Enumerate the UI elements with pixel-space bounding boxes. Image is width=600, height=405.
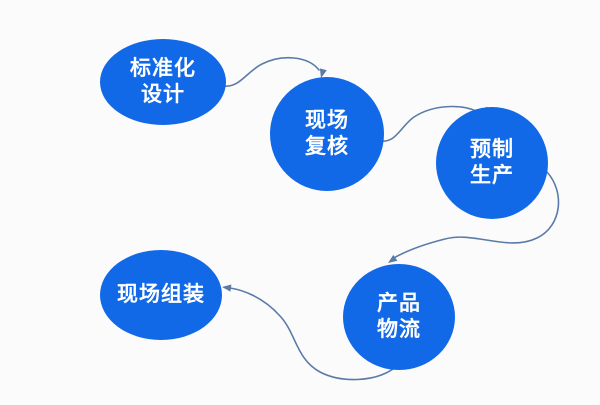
process-node-2[interactable]: 现场复核 [270, 77, 384, 191]
process-flow-diagram: 标准化设计现场复核预制生产产品物流现场组装 [0, 0, 600, 405]
node-label-line: 复核 [304, 134, 349, 158]
process-node-3[interactable]: 预制生产 [436, 107, 548, 219]
node-label-line: 生产 [470, 163, 514, 187]
node-label-line: 现场 [305, 109, 349, 132]
process-node-4[interactable]: 产品物流 [343, 264, 455, 370]
node-label-line: 产品 [377, 291, 421, 315]
node-label-line: 设计 [141, 83, 185, 106]
node-label-line: 物流 [377, 317, 421, 341]
node-label-line: 标准化 [130, 56, 196, 80]
flow-canvas: 标准化设计现场复核预制生产产品物流现场组装 [0, 0, 600, 405]
nodes-layer: 标准化设计现场复核预制生产产品物流现场组装 [100, 39, 548, 370]
process-node-1[interactable]: 标准化设计 [100, 39, 226, 125]
node-label-line: 现场组装 [117, 282, 205, 306]
arrow-head-icon [222, 283, 232, 291]
process-node-5[interactable]: 现场组装 [100, 250, 222, 340]
node-label-line: 预制 [470, 138, 514, 161]
node-label: 现场组装 [117, 282, 205, 306]
